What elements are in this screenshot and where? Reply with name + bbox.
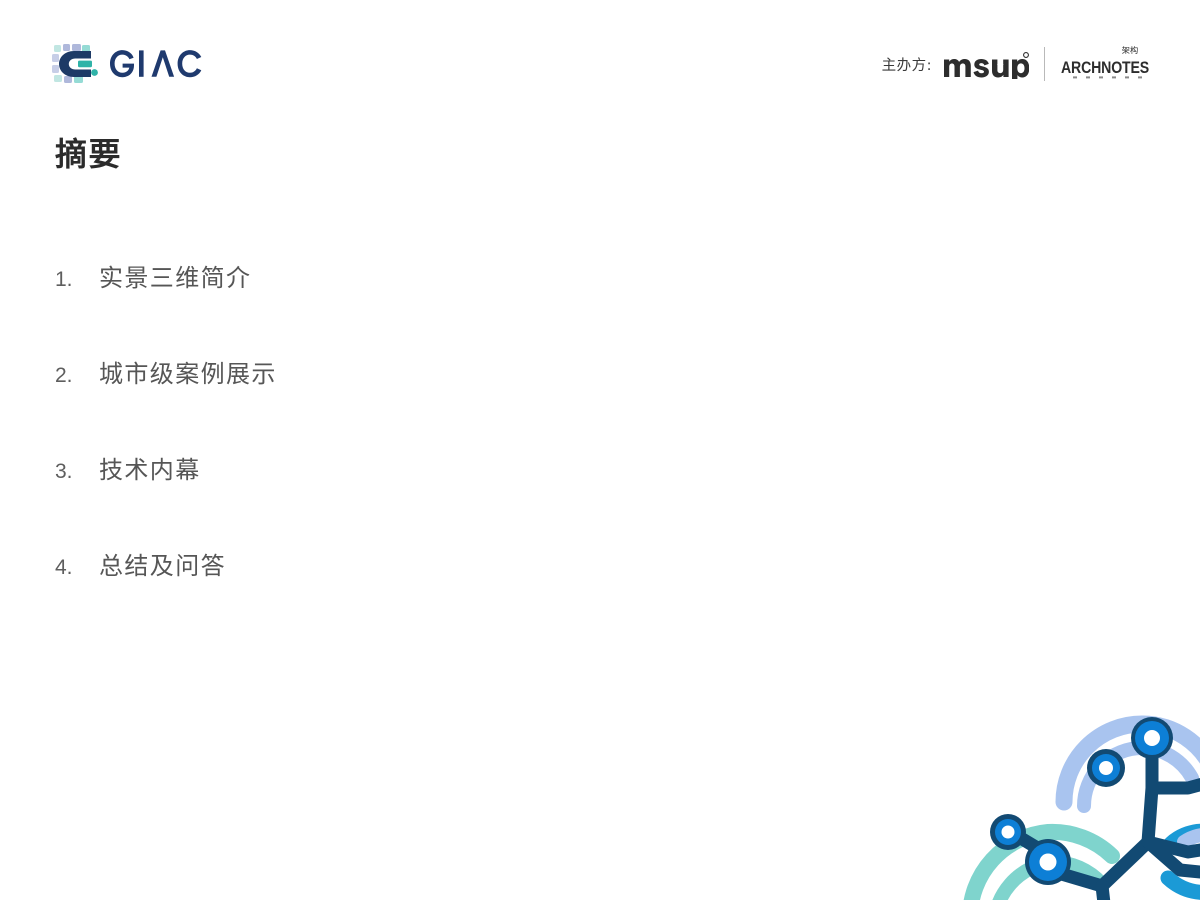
svg-text:ARCHNOTES: ARCHNOTES	[1061, 58, 1149, 77]
network-nodes-graphic	[952, 656, 1200, 900]
graph-node	[990, 717, 1200, 900]
agenda-list: 1. 实景三维简介 2. 城市级案例展示 3. 技术内幕 4. 总结及问答	[55, 258, 695, 642]
agenda-label: 实景三维简介	[99, 258, 251, 293]
slide-header: 主办方: 架构 A	[0, 0, 1200, 110]
sponsor-divider	[1044, 47, 1045, 81]
agenda-label: 总结及问答	[99, 546, 226, 581]
giac-logo-mark	[50, 42, 102, 86]
agenda-item-1[interactable]: 1. 实景三维简介	[55, 258, 695, 354]
agenda-label: 城市级案例展示	[99, 354, 277, 389]
agenda-item-4[interactable]: 4. 总结及问答	[55, 546, 695, 642]
agenda-number: 2.	[55, 364, 99, 388]
page-title: 摘要	[55, 129, 122, 175]
msup-logo	[943, 49, 1029, 79]
network-nodes-svg	[952, 656, 1200, 900]
sponsor-block: 主办方: 架构 A	[882, 42, 1152, 86]
giac-wordmark	[110, 47, 212, 81]
archnotes-logo: 架构 ARCHNOTES	[1060, 44, 1152, 84]
giac-logo	[50, 42, 212, 86]
agenda-number: 3.	[55, 460, 99, 484]
agenda-item-2[interactable]: 2. 城市级案例展示	[55, 354, 695, 450]
agenda-label: 技术内幕	[99, 450, 201, 485]
agenda-number: 1.	[55, 268, 99, 292]
svg-text:架构: 架构	[1122, 45, 1138, 55]
slide-canvas: 主办方: 架构 A	[0, 0, 1200, 900]
sponsor-label: 主办方:	[882, 54, 932, 75]
agenda-item-3[interactable]: 3. 技术内幕	[55, 450, 695, 546]
agenda-number: 4.	[55, 556, 99, 580]
